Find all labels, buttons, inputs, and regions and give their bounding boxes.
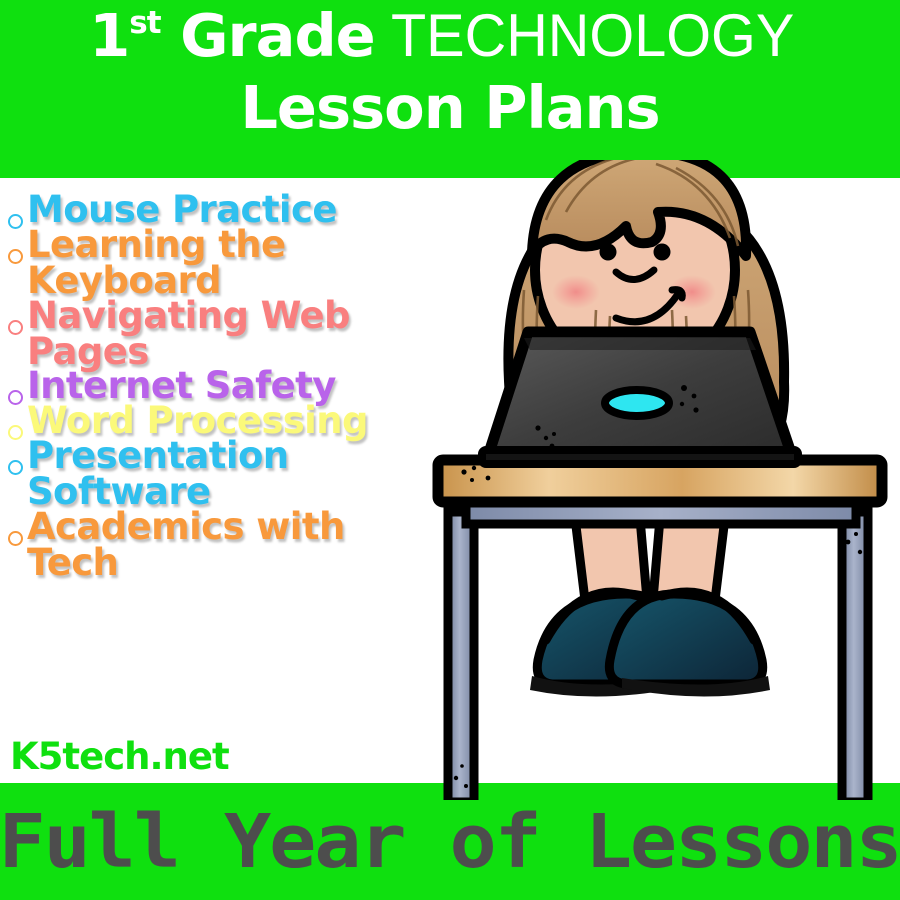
bullet-circle-icon (8, 460, 23, 475)
brand-label: K5tech.net (10, 735, 229, 778)
lesson-item: Learning the Keyboard (8, 227, 428, 300)
title-line-2: Lesson Plans (240, 78, 659, 137)
bullet-circle-icon (8, 531, 23, 546)
bullet-circle-icon (8, 425, 23, 440)
lesson-item-label: Navigating Web Pages (27, 298, 428, 371)
shoes (530, 592, 770, 697)
grade-suffix: st (129, 5, 160, 41)
bullet-circle-icon (8, 320, 23, 335)
lesson-item: Presentation Software (8, 438, 428, 511)
lesson-item: Navigating Web Pages (8, 298, 428, 371)
grade-title: 1st Grade (89, 6, 374, 65)
title-line-1: 1st Grade TECHNOLOGY (89, 6, 811, 66)
grade-number: 1 (89, 1, 129, 70)
lesson-item-label: Presentation Software (27, 438, 428, 511)
bullet-circle-icon (8, 390, 23, 405)
grade-word: Grade (161, 1, 375, 70)
lesson-item: Academics with Tech (8, 509, 428, 582)
laptop (482, 332, 798, 464)
lesson-item-label: Learning the Keyboard (27, 227, 428, 300)
bullet-circle-icon (8, 249, 23, 264)
header-banner: 1st Grade TECHNOLOGY Lesson Plans (0, 0, 900, 178)
bullet-circle-icon (8, 214, 23, 229)
poster: 1st Grade TECHNOLOGY Lesson Plans Mouse … (0, 0, 900, 900)
lesson-item-label: Academics with Tech (27, 509, 428, 582)
footer-text: Full Year of Lessons (0, 805, 900, 879)
lesson-list: Mouse PracticeLearning the KeyboardNavig… (8, 192, 428, 579)
illustration-girl-at-desk (420, 160, 900, 800)
subject-title: TECHNOLOGY (391, 6, 794, 66)
footer-banner: Full Year of Lessons (0, 783, 900, 900)
